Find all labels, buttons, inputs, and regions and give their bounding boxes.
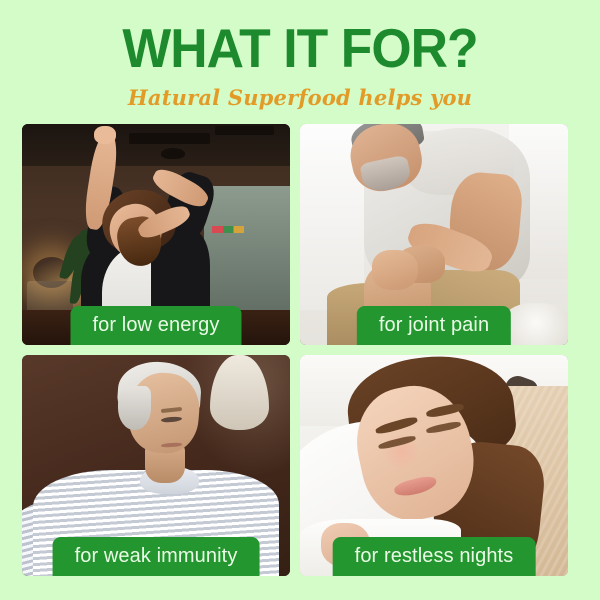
benefit-card-restless-nights[interactable]: for restless nights xyxy=(300,355,568,576)
benefit-card-joint-pain[interactable]: for joint pain xyxy=(300,124,568,345)
benefit-label-joint-pain: for joint pain xyxy=(357,306,511,345)
hand-shape xyxy=(94,126,115,144)
monitor-shape xyxy=(204,186,290,323)
hair-shape xyxy=(118,386,150,430)
benefit-card-low-energy[interactable]: for low energy xyxy=(22,124,290,345)
header: WHAT IT FOR? Hatural Superfood helps you xyxy=(0,0,600,108)
benefit-label-weak-immunity: for weak immunity xyxy=(53,537,260,576)
benefit-label-low-energy: for low energy xyxy=(70,306,241,345)
fur-blanket-shape xyxy=(501,303,568,345)
ceiling-beam-shape xyxy=(215,126,274,135)
hand-shape xyxy=(372,250,418,290)
benefit-card-grid: for low energy for joint pain xyxy=(22,124,568,576)
ceiling-beam-shape xyxy=(129,133,209,144)
benefit-label-restless-nights: for restless nights xyxy=(333,537,536,576)
monitor-color-stripe-shape xyxy=(212,226,244,234)
page-title: WHAT IT FOR? xyxy=(18,0,582,76)
poster-root: WHAT IT FOR? Hatural Superfood helps you xyxy=(0,0,600,600)
page-subtitle: Hatural Superfood helps you xyxy=(0,76,600,108)
benefit-card-weak-immunity[interactable]: for weak immunity xyxy=(22,355,290,576)
hanging-lamp-shape xyxy=(161,148,185,159)
